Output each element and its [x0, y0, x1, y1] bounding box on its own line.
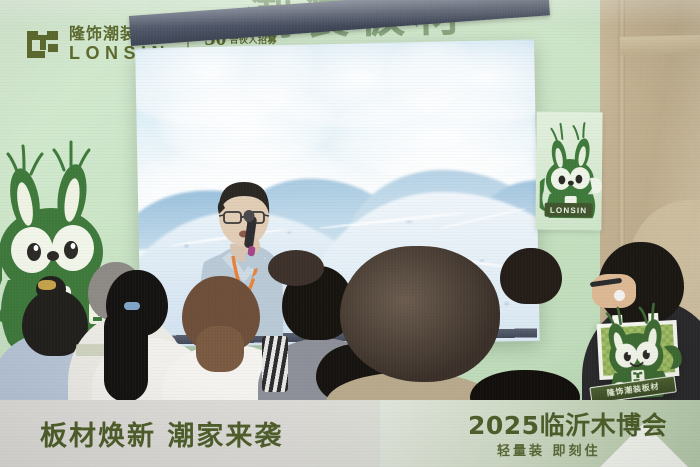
bottom-caption-banner: 板材焕新 潮家来袭 2025临沂木博会 轻量装 即刻住: [0, 400, 700, 467]
exhibition-photo: 潮装板材 隆饰潮装板材 LONSIN 30 城市富仓 合伙人: [0, 0, 700, 467]
audience-member-hair-bun: [524, 276, 556, 302]
banner-left-headline: 板材焕新 潮家来袭: [40, 414, 283, 453]
banner-right-headline: 2025临沂木博会: [468, 406, 667, 442]
wood-trim-horizontal: [620, 35, 700, 55]
rollup-banner-label: LONSIN: [545, 203, 593, 218]
striped-collar: [262, 336, 288, 392]
hair-low-bun: [196, 326, 244, 372]
audience-member-head: [340, 246, 500, 382]
mascot-sticker-overlay: 隆饰潮装板材: [583, 297, 692, 402]
ponytail: [104, 310, 148, 402]
hair-clip: [38, 280, 56, 290]
lonsin-square-mark-icon: [26, 27, 60, 61]
hair-tie: [124, 302, 140, 310]
hair-volume: [268, 250, 324, 286]
earbud-icon: [614, 290, 625, 301]
banner-right-subtitle: 轻量装 即刻住: [497, 440, 601, 459]
rollup-banner: LONSIN: [535, 112, 602, 231]
